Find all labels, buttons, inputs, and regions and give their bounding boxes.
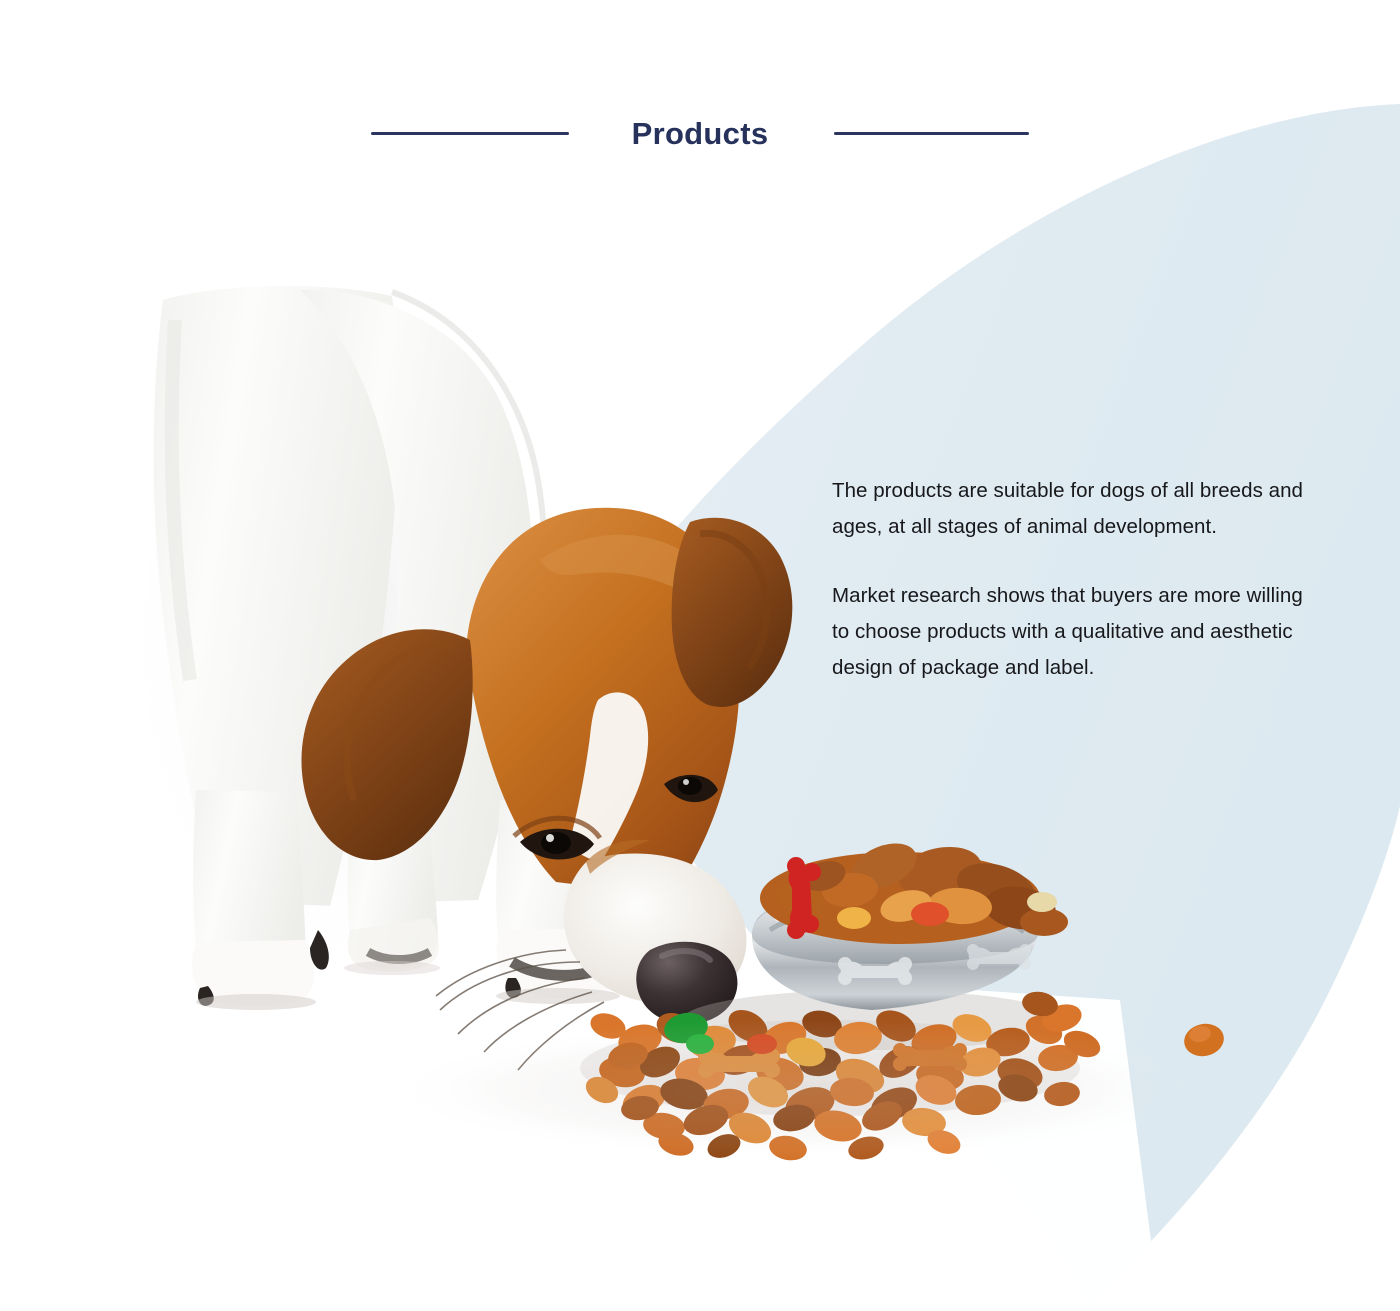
dog-eye-right bbox=[664, 775, 718, 802]
kibble-green-piece bbox=[662, 1009, 711, 1046]
dog-rear-right-leg bbox=[348, 790, 438, 968]
dog-nose bbox=[636, 942, 737, 1024]
page-title: Products bbox=[632, 118, 769, 149]
dog-ear-right bbox=[672, 518, 793, 707]
kibble-red-piece bbox=[747, 1034, 777, 1054]
dog-front-right-leg bbox=[496, 800, 618, 998]
kibble-in-bowl bbox=[760, 835, 1068, 944]
dog-skull bbox=[466, 508, 740, 896]
dog-ear-right-fold bbox=[700, 533, 767, 668]
bowl-shadow bbox=[682, 990, 1062, 1050]
dog-front-legs bbox=[192, 790, 622, 1010]
kibble-red-bone bbox=[787, 857, 821, 939]
dog-face-blaze bbox=[568, 692, 648, 864]
bowl-rim bbox=[752, 894, 1038, 964]
kibble-red-chip bbox=[911, 902, 949, 926]
dog-torso bbox=[154, 286, 399, 906]
paragraph-1: The products are suitable for dogs of al… bbox=[832, 473, 1322, 545]
dog-paw-front-right bbox=[496, 928, 622, 1004]
dog-paw-rear bbox=[344, 918, 440, 975]
bowl-bone-emboss-1 bbox=[838, 957, 912, 985]
dog-shoulder-shading bbox=[172, 320, 190, 680]
stray-kibble bbox=[1181, 1020, 1227, 1060]
dog-body-shadow bbox=[115, 280, 545, 1000]
dog-ear-left bbox=[302, 629, 473, 860]
blue-curve-shape bbox=[610, 104, 1400, 1311]
dog-body bbox=[154, 286, 546, 906]
dog-eye-left bbox=[514, 818, 600, 859]
body-copy: The products are suitable for dogs of al… bbox=[832, 473, 1322, 686]
dog-nose-highlight bbox=[662, 951, 710, 960]
decorative-rule-left bbox=[371, 132, 569, 135]
dog-face-blaze-lower bbox=[592, 856, 646, 924]
kibble-yellow-piece bbox=[783, 1034, 829, 1071]
bowl-rim-inner-shadow bbox=[770, 908, 1024, 932]
kibble-bone-shape bbox=[893, 1043, 967, 1071]
kibble-bone-shape bbox=[698, 1048, 780, 1078]
dog-back-line bbox=[392, 292, 545, 664]
product-section-page: Products bbox=[0, 0, 1400, 1311]
scene-floor-glow bbox=[380, 1020, 1220, 1160]
kibble-cream-chip bbox=[1027, 892, 1057, 912]
bowl-bone-emboss-2 bbox=[967, 944, 1031, 970]
paw-nail bbox=[505, 978, 521, 998]
dog-paw-front-left bbox=[192, 930, 329, 1010]
white-sweep-shape bbox=[610, 612, 1090, 1311]
dog-hind-haunch bbox=[300, 290, 534, 904]
kibble-pile bbox=[580, 989, 1227, 1163]
floor-highlight bbox=[470, 962, 1160, 1311]
dog-rear-left-leg bbox=[193, 790, 306, 1002]
kibble-yellow-chip bbox=[837, 907, 871, 929]
bowl-body bbox=[752, 898, 1036, 1010]
paragraph-2: Market research shows that buyers are mo… bbox=[832, 578, 1322, 686]
dog-muzzle bbox=[564, 853, 746, 1004]
decorative-rule-right bbox=[834, 132, 1029, 135]
paw-nail bbox=[310, 930, 329, 970]
section-header: Products bbox=[0, 118, 1400, 149]
food-bowl bbox=[682, 894, 1062, 1050]
kibble-green-piece bbox=[686, 1034, 714, 1054]
paw-nail bbox=[198, 986, 214, 1006]
dog-muzzle-tan-edge bbox=[586, 840, 650, 874]
bowl-specular bbox=[778, 902, 918, 918]
dog-head bbox=[302, 508, 793, 1070]
dog-whiskers bbox=[436, 950, 604, 1070]
dog-forehead-highlight bbox=[540, 535, 726, 630]
dog-ear-left-fold bbox=[347, 645, 456, 800]
